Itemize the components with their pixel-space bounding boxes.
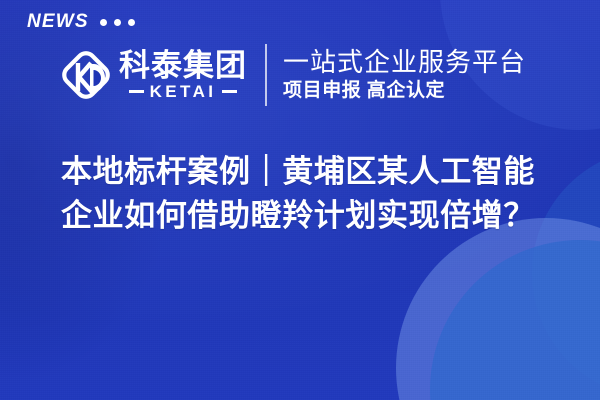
news-banner: NEWS 科泰集团 KETAI: [0, 0, 600, 400]
headline-line-1: 本地标杆案例｜黄埔区某人工智能: [61, 150, 561, 194]
tagline-main: 一站式企业服务平台: [283, 48, 526, 77]
news-dot-icon: [114, 19, 121, 26]
brand-name-en-row: KETAI: [119, 83, 247, 100]
decorative-circle-light: [396, 218, 600, 400]
brand-name-en: KETAI: [150, 83, 217, 100]
news-dot-icon: [100, 19, 107, 26]
brand-name-cn: 科泰集团: [119, 50, 247, 82]
headline-line-2: 企业如何借助瞪羚计划实现倍增？: [61, 194, 561, 238]
brand-band: 科泰集团 KETAI 一站式企业服务平台 项目申报 高企认定: [60, 42, 526, 108]
ketai-diamond-kd-monogram-icon: [60, 47, 112, 103]
wordmark-rule-right: [222, 90, 237, 93]
news-label: NEWS: [27, 12, 89, 31]
headline: 本地标杆案例｜黄埔区某人工智能 企业如何借助瞪羚计划实现倍增？: [61, 150, 561, 238]
tagline-sub: 项目申报 高企认定: [283, 81, 526, 102]
news-dots: [100, 19, 135, 26]
vertical-divider: [265, 44, 267, 106]
news-dot-icon: [128, 19, 135, 26]
brand-wordmark: 科泰集团 KETAI: [119, 50, 247, 101]
eyebrow: NEWS: [27, 12, 135, 31]
decorative-circle-mid: [430, 240, 600, 400]
wordmark-rule-left: [129, 90, 144, 93]
tagline: 一站式企业服务平台 项目申报 高企认定: [283, 48, 526, 102]
